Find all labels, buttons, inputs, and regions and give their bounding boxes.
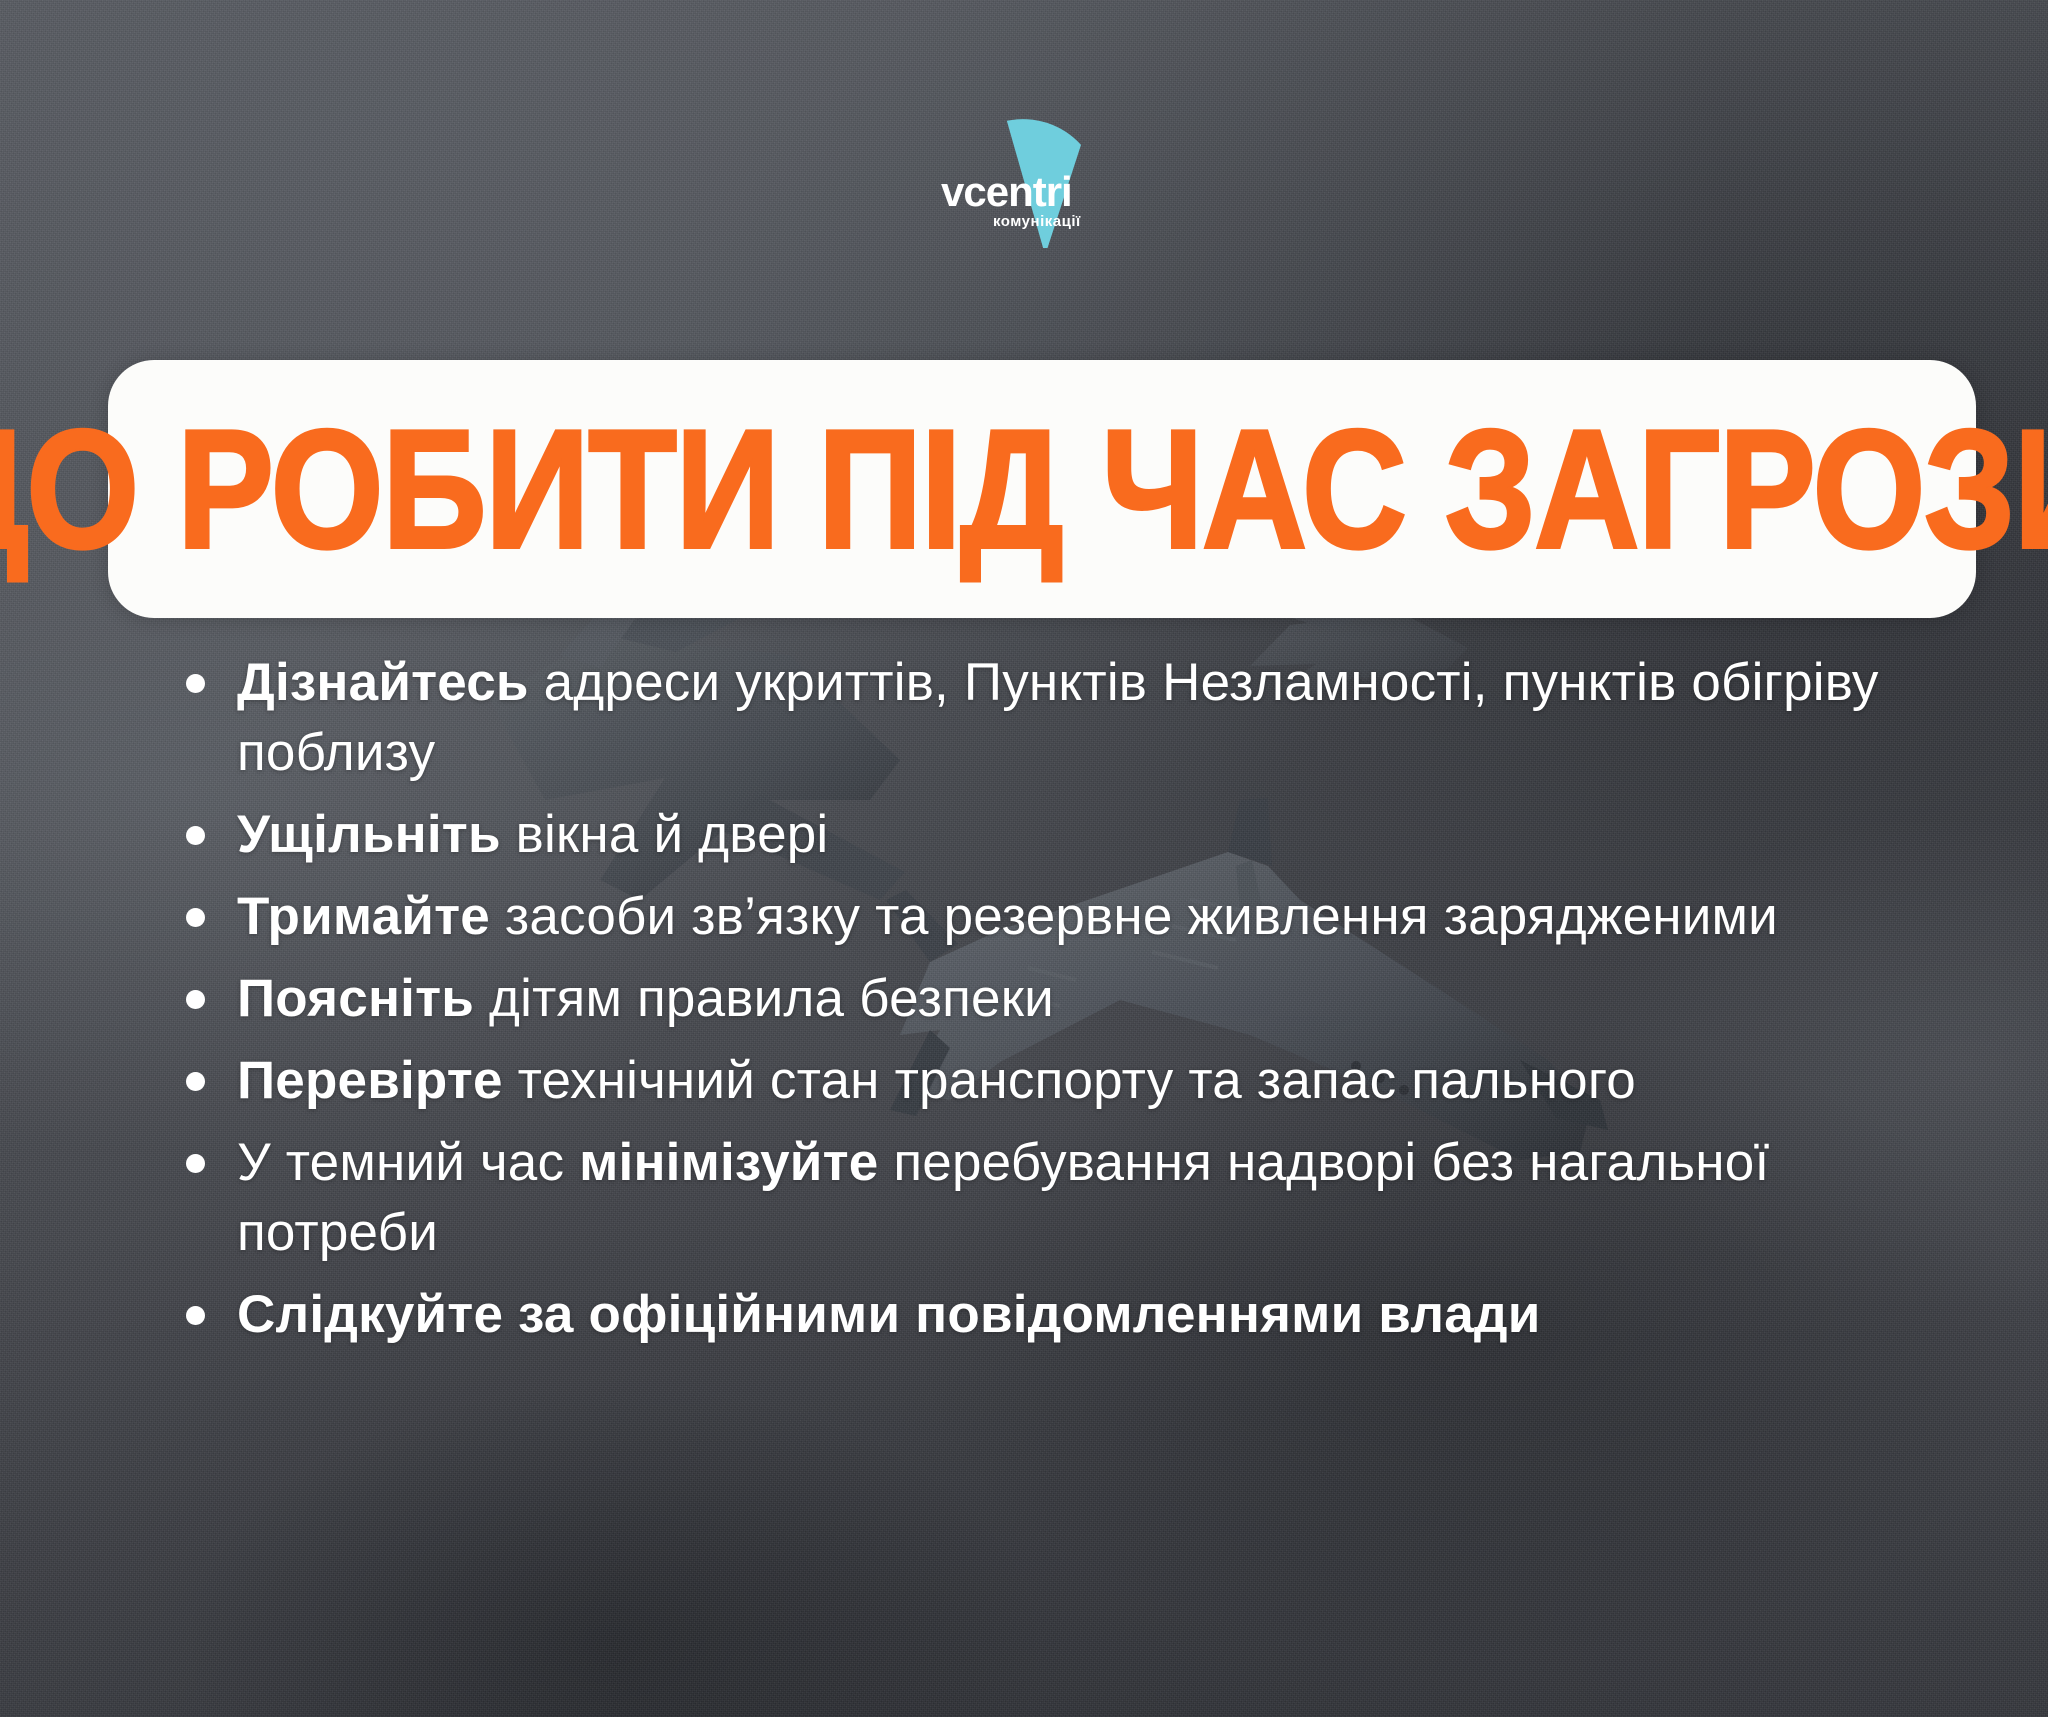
logo-tagline: комунікації bbox=[993, 213, 1081, 230]
list-item-text: Тримайте засоби зв’язку та резервне живл… bbox=[237, 882, 1946, 952]
brand-logo[interactable]: vcentri комунікації bbox=[929, 108, 1119, 248]
list-item: Поясніть дітям правила безпеки bbox=[186, 964, 1946, 1034]
list-item-text: Перевірте технічний стан транспорту та з… bbox=[237, 1046, 1946, 1116]
bullet-dot-icon bbox=[186, 674, 205, 693]
list-item-bold: Поясніть bbox=[237, 969, 474, 1028]
list-item-text: Ущільніть вікна й двері bbox=[237, 800, 1946, 870]
bullet-dot-icon bbox=[186, 1306, 205, 1325]
list-item-bold: Ущільніть bbox=[237, 805, 501, 864]
list-item-bold: мінімізуйте bbox=[579, 1133, 878, 1192]
bullet-dot-icon bbox=[186, 1072, 205, 1091]
list-item: Ущільніть вікна й двері bbox=[186, 800, 1946, 870]
list-item-bold: Перевірте bbox=[237, 1051, 503, 1110]
list-item-bold: Тримайте bbox=[237, 887, 490, 946]
list-item: У темний час мінімізуйте перебування над… bbox=[186, 1128, 1946, 1268]
list-item: Дізнайтесь адреси укриттів, Пунктів Незл… bbox=[186, 648, 1946, 788]
page-title: ЩО РОБИТИ ПІД ЧАС ЗАГРОЗИ? bbox=[0, 405, 2048, 573]
logo-wordmark: vcentri bbox=[941, 168, 1072, 215]
list-item-bold: Дізнайтесь bbox=[237, 653, 529, 712]
list-item-text: Поясніть дітям правила безпеки bbox=[237, 964, 1946, 1034]
recommendation-list: Дізнайтесь адреси укриттів, Пунктів Незл… bbox=[186, 648, 1946, 1362]
list-item: Тримайте засоби зв’язку та резервне живл… bbox=[186, 882, 1946, 952]
list-item-text: У темний час мінімізуйте перебування над… bbox=[237, 1128, 1946, 1268]
bullet-dot-icon bbox=[186, 826, 205, 845]
list-item-rest: вікна й двері bbox=[501, 805, 829, 864]
list-item-text: Слідкуйте за офіційними повідомленнями в… bbox=[237, 1280, 1946, 1350]
list-item-lead: У темний час bbox=[237, 1133, 579, 1192]
title-card: ЩО РОБИТИ ПІД ЧАС ЗАГРОЗИ? bbox=[108, 360, 1976, 618]
list-item: Слідкуйте за офіційними повідомленнями в… bbox=[186, 1280, 1946, 1350]
list-item-bold: Слідкуйте за офіційними повідомленнями в… bbox=[237, 1285, 1541, 1344]
poster-root: vcentri комунікації ЩО РОБИТИ ПІД ЧАС ЗА… bbox=[0, 0, 2048, 1717]
list-item: Перевірте технічний стан транспорту та з… bbox=[186, 1046, 1946, 1116]
list-item-rest: технічний стан транспорту та запас пальн… bbox=[503, 1051, 1636, 1110]
bullet-dot-icon bbox=[186, 990, 205, 1009]
list-item-rest: засоби зв’язку та резервне живлення заря… bbox=[490, 887, 1778, 946]
bullet-dot-icon bbox=[186, 1154, 205, 1173]
list-item-text: Дізнайтесь адреси укриттів, Пунктів Незл… bbox=[237, 648, 1946, 788]
list-item-rest: дітям правила безпеки bbox=[474, 969, 1054, 1028]
bullet-dot-icon bbox=[186, 908, 205, 927]
